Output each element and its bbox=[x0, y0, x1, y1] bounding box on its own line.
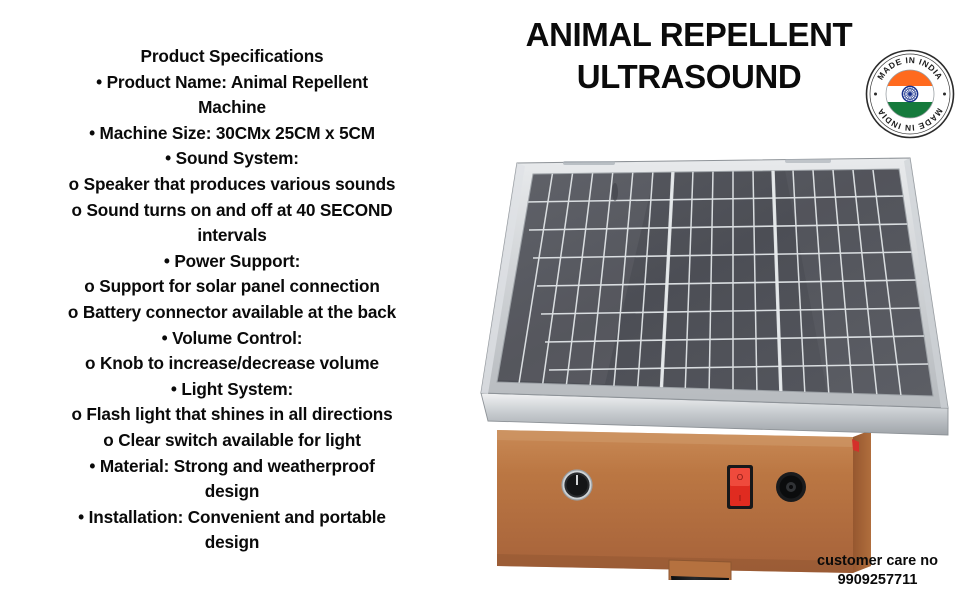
customer-care-block: customer care no 9909257711 bbox=[790, 552, 965, 590]
spec-line-10: o Battery connector available at the bac… bbox=[22, 300, 442, 326]
spec-line-4: • Sound System: bbox=[22, 146, 442, 172]
ashoka-chakra-icon bbox=[902, 86, 917, 101]
page-title: ANIMAL REPELLENT ULTRASOUND bbox=[500, 14, 878, 98]
seal-dot-left bbox=[874, 93, 877, 96]
product-image: O I bbox=[455, 130, 970, 580]
spec-line-16: • Material: Strong and weatherproof bbox=[22, 454, 442, 480]
spec-line-19: design bbox=[22, 530, 442, 556]
panel-label-strip bbox=[563, 161, 615, 165]
spec-line-title: Product Specifications bbox=[22, 44, 442, 70]
ad-canvas: Product Specifications • Product Name: A… bbox=[0, 0, 970, 600]
spec-line-15: o Clear switch available for light bbox=[22, 428, 442, 454]
dc-power-jack[interactable] bbox=[776, 472, 806, 502]
title-line-1: ANIMAL REPELLENT bbox=[500, 14, 878, 56]
spec-line-12: o Knob to increase/decrease volume bbox=[22, 351, 442, 377]
spec-line-11: • Volume Control: bbox=[22, 326, 442, 352]
spec-line-13: • Light System: bbox=[22, 377, 442, 403]
solar-panel bbox=[481, 158, 948, 435]
customer-care-label: customer care no bbox=[790, 552, 965, 571]
panel-label-strip-2 bbox=[785, 159, 831, 163]
customer-care-number: 9909257711 bbox=[790, 571, 965, 590]
made-in-india-badge: MADE IN INDIA MADE IN INDIA bbox=[864, 48, 956, 140]
spec-line-18: • Installation: Convenient and portable bbox=[22, 505, 442, 531]
spec-line-6: o Sound turns on and off at 40 SECOND bbox=[22, 198, 442, 224]
product-specifications-block: Product Specifications • Product Name: A… bbox=[22, 44, 442, 556]
spec-line-9: o Support for solar panel connection bbox=[22, 274, 442, 300]
power-rocker-switch[interactable]: O I bbox=[727, 465, 753, 509]
spec-line-14: o Flash light that shines in all directi… bbox=[22, 402, 442, 428]
spec-line-7: intervals bbox=[22, 223, 442, 249]
svg-text:I: I bbox=[739, 494, 741, 503]
spec-line-2: Machine bbox=[22, 95, 442, 121]
spec-line-5: o Speaker that produces various sounds bbox=[22, 172, 442, 198]
title-line-2: ULTRASOUND bbox=[500, 56, 878, 98]
svg-text:O: O bbox=[737, 473, 743, 482]
spec-line-17: design bbox=[22, 479, 442, 505]
volume-knob[interactable] bbox=[562, 470, 592, 500]
spec-line-1: • Product Name: Animal Repellent bbox=[22, 70, 442, 96]
seal-dot-right bbox=[943, 93, 946, 96]
spec-line-8: • Power Support: bbox=[22, 249, 442, 275]
spec-line-3: • Machine Size: 30CMx 25CM x 5CM bbox=[22, 121, 442, 147]
